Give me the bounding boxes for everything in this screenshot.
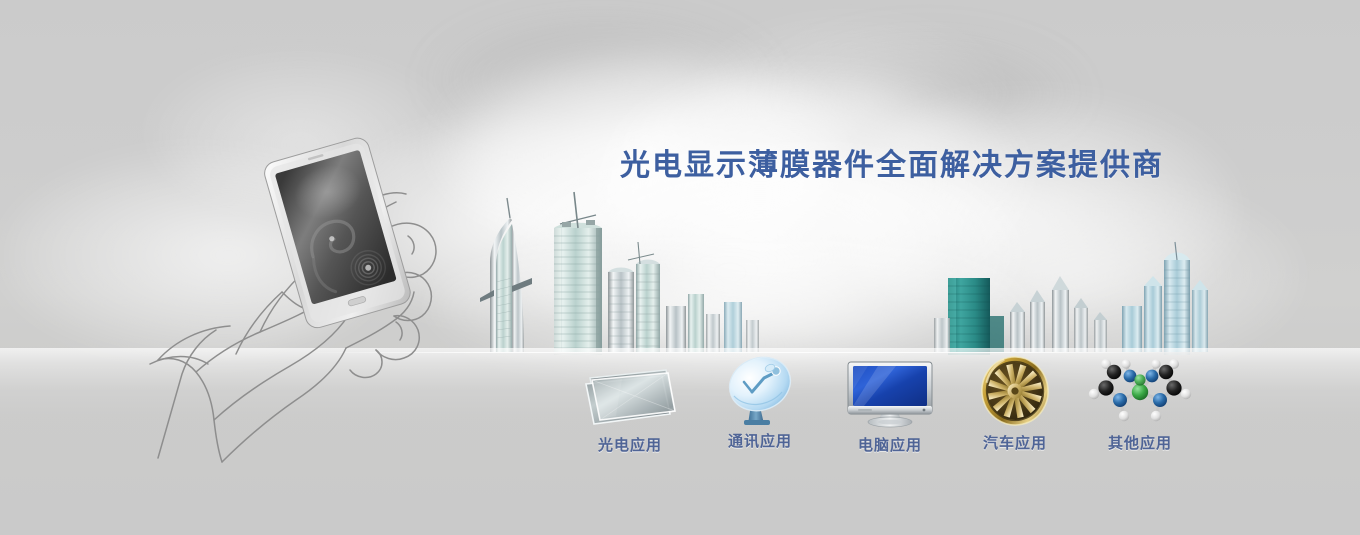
- glass-film-panels-icon: [565, 356, 695, 428]
- hydrogen-atom: [1181, 389, 1191, 399]
- metal-center-atom: [1132, 384, 1148, 400]
- application-item-computer[interactable]: 电脑应用: [825, 356, 955, 455]
- application-item-automotive[interactable]: 汽车应用: [950, 354, 1080, 453]
- carbon-atom: [1107, 365, 1121, 379]
- hydrogen-atom: [1151, 411, 1161, 421]
- application-label: 汽车应用: [950, 432, 1080, 453]
- silver-spires: [1010, 276, 1107, 352]
- hydrogen-atom: [1121, 359, 1130, 368]
- hydrogen-atom: [1089, 389, 1099, 399]
- sail-tower: [480, 198, 532, 352]
- main-tower: [554, 192, 602, 352]
- application-label: 光电应用: [565, 434, 695, 455]
- city-skyline: [450, 190, 1210, 355]
- hydrogen-atom: [1119, 411, 1129, 421]
- carbon-atom: [1166, 380, 1181, 395]
- application-label: 电脑应用: [825, 434, 955, 455]
- carbon-atom: [1098, 380, 1113, 395]
- application-label: 其他应用: [1075, 432, 1205, 453]
- teal-tower: [934, 278, 1004, 352]
- satellite-dish-icon: [695, 352, 825, 424]
- application-item-other[interactable]: 其他应用: [1075, 354, 1205, 453]
- twin-towers: [608, 242, 660, 352]
- application-item-optoelectronic[interactable]: 光电应用: [565, 356, 695, 455]
- carbon-atom: [1159, 365, 1173, 379]
- application-list: 光电应用: [555, 352, 1205, 462]
- nitrogen-atom: [1113, 393, 1127, 407]
- mid-cluster: [666, 294, 759, 352]
- alloy-wheel-icon: [950, 354, 1080, 426]
- nitrogen-atom: [1153, 393, 1167, 407]
- blue-glass-towers: [1122, 242, 1208, 352]
- page-title: 光电显示薄膜器件全面解决方案提供商: [620, 140, 1164, 184]
- metal-center-atom: [1134, 374, 1145, 385]
- nitrogen-atom: [1146, 370, 1159, 383]
- application-label: 通讯应用: [695, 430, 825, 451]
- hand-holding-phone-illustration: [140, 128, 470, 473]
- computer-monitor-icon: [825, 356, 955, 428]
- smartphone: [262, 135, 413, 330]
- hydrogen-atom: [1151, 359, 1160, 368]
- application-item-communication[interactable]: 通讯应用: [695, 352, 825, 451]
- promotional-banner: 光电显示薄膜器件全面解决方案提供商: [0, 0, 1360, 535]
- molecule-model-icon: [1075, 354, 1205, 426]
